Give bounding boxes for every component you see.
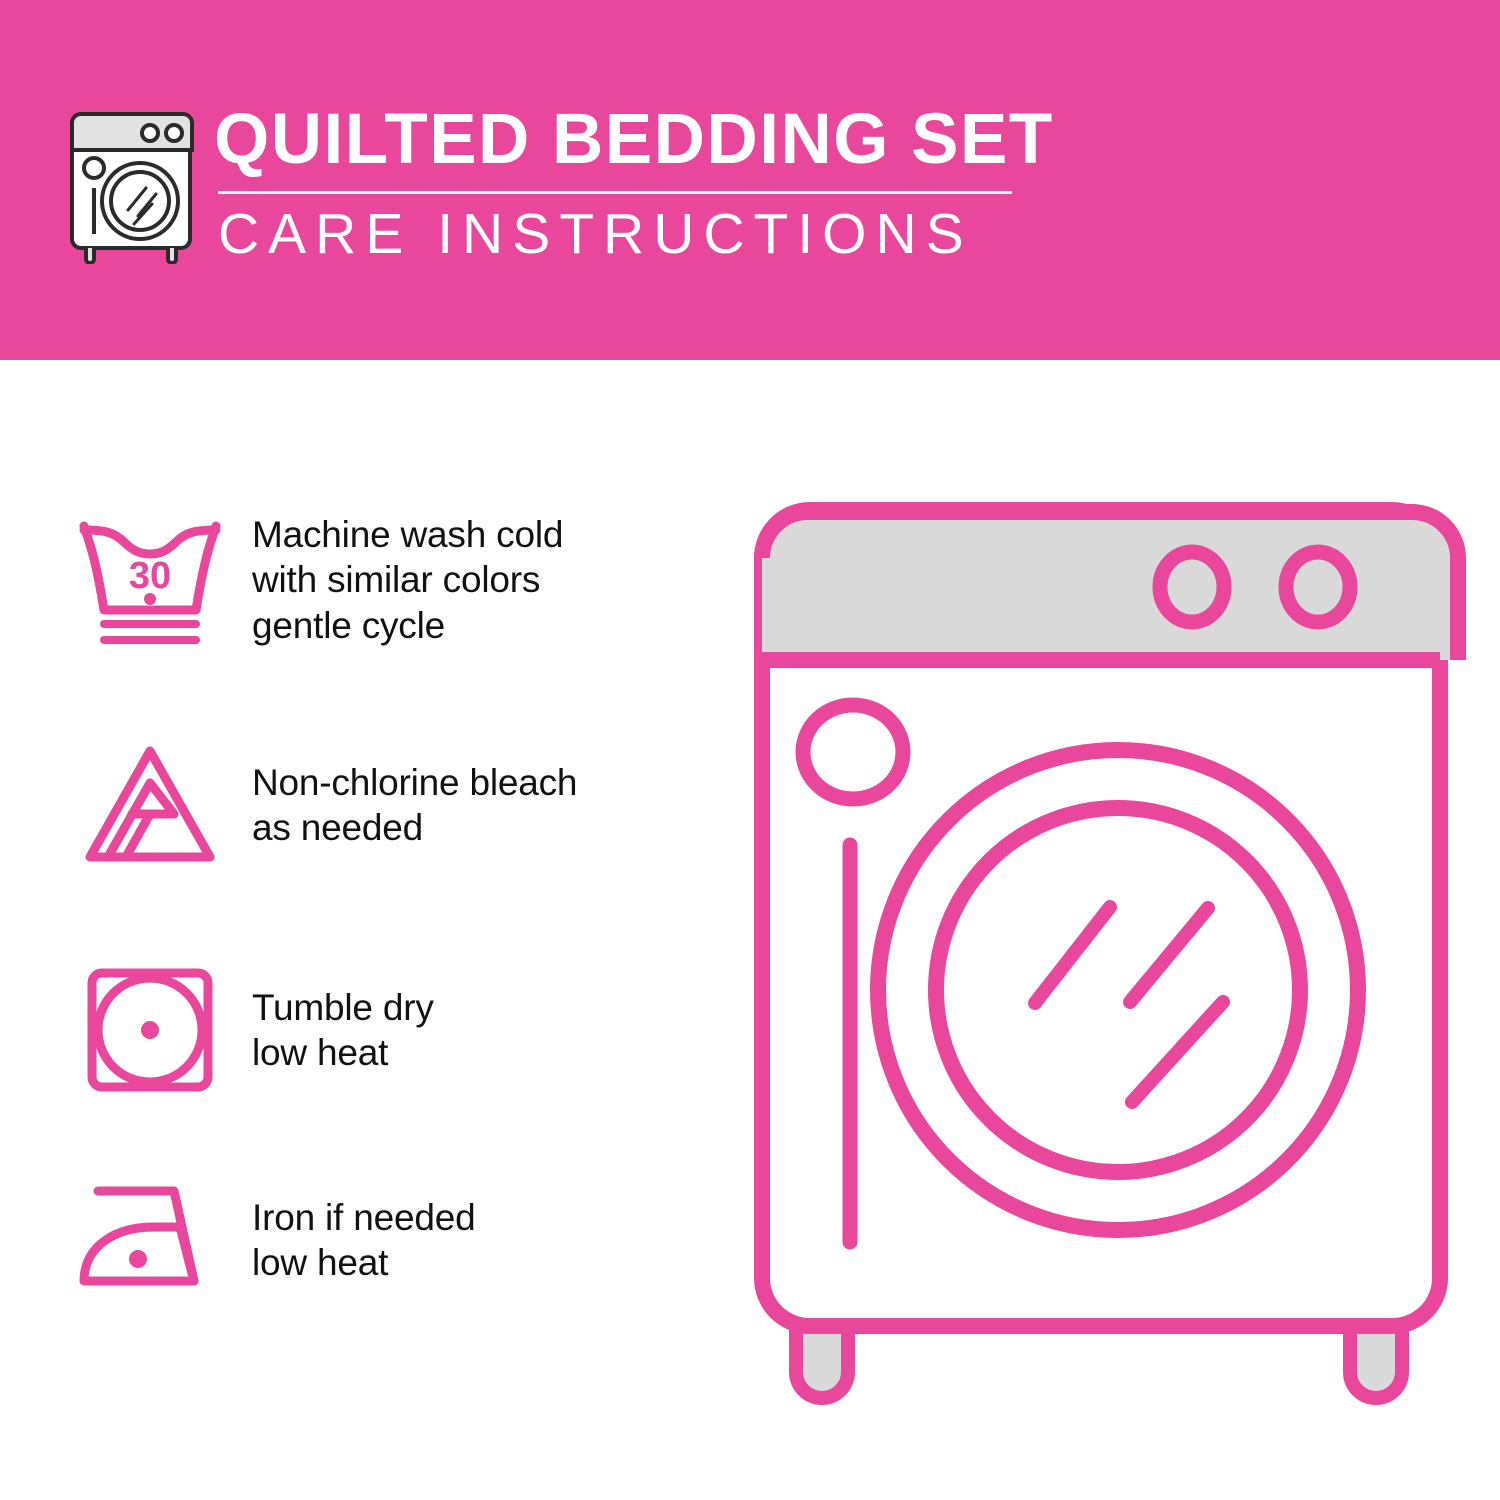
wash-temp-value: 30 xyxy=(129,555,171,597)
care-row-machine-wash: 30 Machine wash cold with similar colors… xyxy=(70,510,710,650)
machine-door-inner xyxy=(936,808,1300,1172)
care-label-line: low heat xyxy=(252,1240,475,1285)
page-subtitle: CARE INSTRUCTIONS xyxy=(218,206,1024,263)
bleach-triangle-icon xyxy=(70,735,240,875)
care-label-line: Non-chlorine bleach xyxy=(252,760,577,805)
care-label-line: with similar colors xyxy=(252,557,563,602)
care-label-line: Iron if needed xyxy=(252,1195,475,1240)
care-label-line: low heat xyxy=(252,1030,434,1075)
iron-icon xyxy=(70,1175,240,1305)
header-banner: QUILTED BEDDING SET CARE INSTRUCTIONS xyxy=(0,0,1500,360)
care-row-bleach: Non-chlorine bleach as needed xyxy=(70,735,710,875)
care-row-tumble-dry: Tumble dry low heat xyxy=(70,960,710,1100)
care-row-iron: Iron if needed low heat xyxy=(70,1175,710,1305)
care-label-line: Tumble dry xyxy=(252,985,434,1030)
page-title: QUILTED BEDDING SET xyxy=(214,104,1024,175)
care-label-line: as needed xyxy=(252,805,577,850)
care-label-iron: Iron if needed low heat xyxy=(240,1195,475,1285)
tumble-dry-icon xyxy=(70,960,240,1100)
wash-tub-30-icon: 30 xyxy=(70,510,240,650)
care-instructions-list: 30 Machine wash cold with similar colors… xyxy=(0,360,740,1500)
title-divider xyxy=(218,191,1012,194)
care-label-bleach: Non-chlorine bleach as needed xyxy=(240,760,577,850)
control-knob-left xyxy=(1160,552,1224,622)
indicator-button xyxy=(803,705,903,799)
care-label-line: gentle cycle xyxy=(252,603,563,648)
care-label-line: Machine wash cold xyxy=(252,512,563,557)
washing-machine-illustration xyxy=(740,490,1480,1430)
care-label-tumble-dry: Tumble dry low heat xyxy=(240,985,434,1075)
control-knob-right xyxy=(1286,552,1350,622)
care-label-machine-wash: Machine wash cold with similar colors ge… xyxy=(240,512,563,647)
header-text-block: QUILTED BEDDING SET CARE INSTRUCTIONS xyxy=(214,104,1024,263)
washing-machine-icon xyxy=(66,106,198,264)
